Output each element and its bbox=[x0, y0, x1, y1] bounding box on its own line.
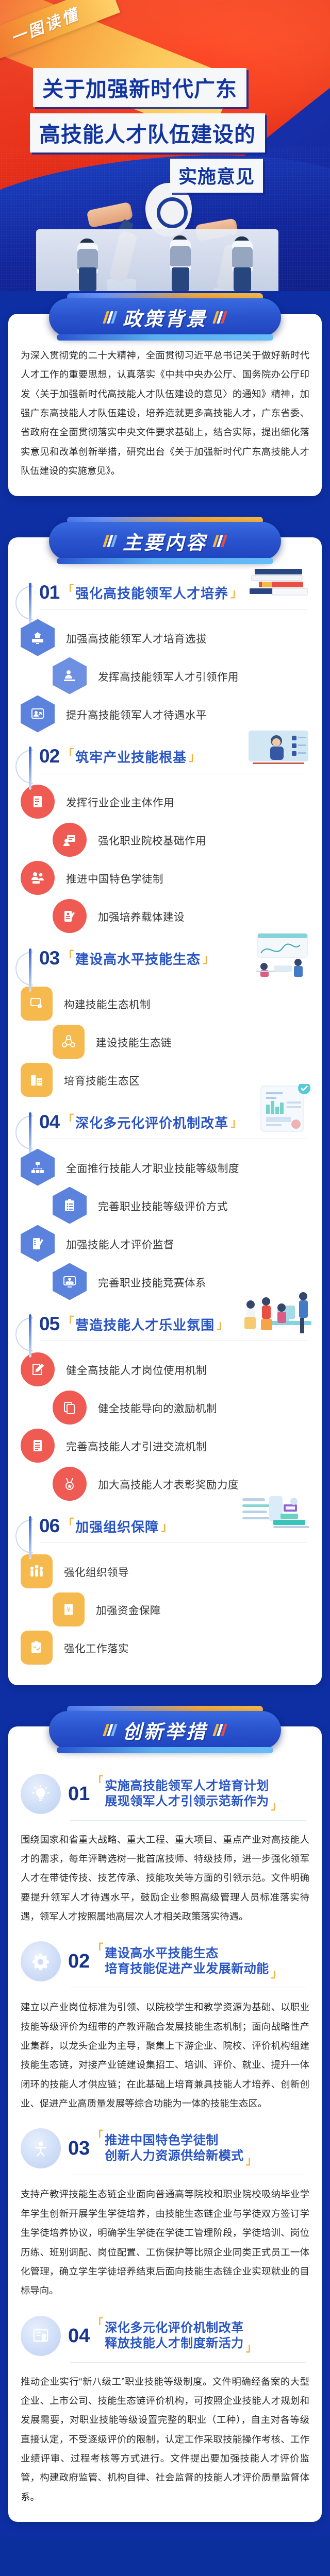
innovative-measures-header: 创新举措 bbox=[8, 1704, 322, 1751]
bracket-open-icon: 「 bbox=[62, 748, 74, 761]
data-analysis-illustration bbox=[244, 933, 309, 977]
hero-title-text-1: 关于加强新时代广东 bbox=[42, 77, 237, 101]
item-heading: 02 「 筑牢产业技能根基 」 bbox=[21, 747, 309, 766]
policy-background-card: 为深入贯彻党的二十大精神，全面贯彻习近平总书记关于做好新时代人才工作的重要思想，… bbox=[8, 314, 322, 496]
bullet-row: 加强技能人才评价监督 bbox=[21, 1225, 309, 1263]
books-shelf-illustration bbox=[240, 1495, 312, 1534]
measure-heading: 03 「 推进中国特色学徒制 创新人力资源供给新模式 」 bbox=[21, 2128, 309, 2168]
bullet-row: 推进中国特色学徒制 bbox=[21, 859, 309, 897]
measure-heading: 04 「 深化多元化评价机制改革 释放技能人才制度新活力 」 bbox=[21, 2316, 309, 2356]
item-divider bbox=[40, 773, 307, 773]
bullet-row: 提升高技能领军人才待遇水平 bbox=[21, 695, 309, 733]
bullet-label: 发挥行业企业主体作用 bbox=[66, 794, 174, 809]
measure-number: 01 bbox=[68, 1784, 90, 1804]
item-title: 建设高水平技能生态 bbox=[75, 952, 201, 968]
item-title: 强化高技能领军人才培养 bbox=[75, 586, 228, 602]
bracket-close-icon: 」 bbox=[217, 1318, 228, 1332]
bullet-label: 加强高技能领军人才培育选拔 bbox=[66, 630, 207, 646]
policy-background-paragraph: 为深入贯彻党的二十大精神，全面贯彻习近平总书记关于做好新时代人才工作的重要思想，… bbox=[21, 346, 309, 481]
bracket-open-icon: 「 bbox=[92, 1942, 103, 1956]
vertical-bar-icon bbox=[29, 1314, 31, 1358]
copy-pages-icon bbox=[53, 1391, 87, 1425]
item-bullets: 发挥行业企业主体作用 强化职业院校基础作用 推进中国特色学徒制 bbox=[21, 783, 309, 935]
measure-divider bbox=[70, 2175, 306, 2175]
report-check-illustration bbox=[255, 1084, 310, 1133]
buildings-icon bbox=[21, 1063, 53, 1097]
section-policy-background: 政策背景 为深入贯彻党的二十大精神，全面贯彻习近平总书记关于做好新时代人才工作的… bbox=[0, 291, 330, 496]
hero-banner: 一图读懂 关于加强新时代广东 高技能人才队伍建设的 实施意见 bbox=[0, 0, 330, 291]
bracket-close-icon: 」 bbox=[189, 751, 200, 764]
group-people-icon bbox=[21, 1554, 53, 1588]
item-number: 04 bbox=[39, 1112, 59, 1131]
screen-gear-icon bbox=[21, 987, 53, 1021]
slashes-right-icon bbox=[212, 535, 227, 547]
measure-title: 深化多元化评价机制改革 释放技能人才制度新活力 bbox=[105, 2320, 244, 2351]
pill-light-accent bbox=[57, 334, 273, 341]
bullet-row: 发挥高技能领军人才引领作用 bbox=[21, 657, 309, 695]
item-title: 加强组织保障 bbox=[75, 1519, 159, 1535]
item-number: 03 bbox=[39, 948, 59, 968]
person-message-icon bbox=[53, 823, 87, 857]
bullet-label: 完善职业技能等级评价方式 bbox=[98, 1198, 228, 1213]
measure-title-line-2: 释放技能人才制度新活力 bbox=[105, 2336, 244, 2351]
content-item-03: 03 「 建设高水平技能生态 」 bbox=[21, 948, 309, 1099]
bullet-label: 强化职业院校基础作用 bbox=[98, 832, 206, 848]
bracket-open-icon: 「 bbox=[92, 2317, 103, 2330]
section-innovative-measures: 创新举措 01 「 bbox=[0, 1704, 330, 2522]
bullet-row: 完善职业技能等级评价方式 bbox=[21, 1187, 309, 1225]
bracket-open-icon: 「 bbox=[62, 1113, 74, 1127]
team-meeting-illustration bbox=[239, 1287, 311, 1336]
item-bullets: 强化组织领导 ¥ 加强资金保障 强化工作落实 bbox=[21, 1552, 309, 1667]
bracket-open-icon: 「 bbox=[62, 1315, 74, 1329]
hero-title-text-2: 高技能人才队伍建设的 bbox=[39, 123, 256, 146]
bullet-label: 加强资金保障 bbox=[96, 1602, 161, 1617]
bracket-open-icon: 「 bbox=[62, 584, 74, 597]
two-persons-icon bbox=[21, 861, 55, 895]
measure-title-line-1: 深化多元化评价机制改革 bbox=[105, 2320, 244, 2336]
bracket-close-icon: 」 bbox=[271, 1967, 283, 1980]
item-title: 筑牢产业技能根基 bbox=[75, 750, 187, 766]
pill-policy-background: 政策背景 bbox=[49, 298, 281, 336]
item-number: 05 bbox=[39, 1314, 59, 1333]
vertical-bar-icon bbox=[29, 948, 31, 992]
bullet-label: 加强技能人才评价监督 bbox=[66, 1236, 174, 1251]
abc-network-icon bbox=[53, 1025, 85, 1059]
item-divider bbox=[40, 1543, 307, 1543]
slashes-right-icon bbox=[212, 1724, 227, 1736]
id-card-pen-icon bbox=[53, 899, 87, 933]
slashes-left-icon bbox=[103, 1724, 118, 1736]
item-title: 深化多元化评价机制改革 bbox=[75, 1115, 228, 1131]
measure-title: 建设高水平技能生态 培育技能促进产业发展新动能 bbox=[105, 1946, 269, 1977]
bracket-close-icon: 」 bbox=[271, 1799, 283, 1812]
clipboard-check-icon bbox=[21, 1631, 53, 1665]
main-content-card: 01 「 强化高技能领军人才培养 」 bbox=[8, 537, 322, 1685]
item-divider bbox=[40, 1139, 307, 1139]
vertical-bar-icon bbox=[29, 747, 31, 790]
infographic-page: 一图读懂 关于加强新时代广东 高技能人才队伍建设的 实施意见 政策背景 bbox=[0, 0, 330, 2537]
bullet-label: 加大高技能人才表彰奖励力度 bbox=[98, 1476, 239, 1492]
person-desk-icon bbox=[53, 657, 87, 694]
item-heading: 03 「 建设高水平技能生态 」 bbox=[21, 948, 309, 968]
bracket-close-icon: 」 bbox=[230, 587, 242, 600]
footer-spacer bbox=[0, 2522, 330, 2537]
bracket-open-icon: 「 bbox=[62, 950, 74, 963]
item-bullets: 健全高技能人才岗位使用机制 健全技能导向的激励机制 完善高技能人才引进交流机制 bbox=[21, 1350, 309, 1503]
content-item-06: 06 「 加强组织保障 」 bbox=[21, 1516, 309, 1667]
bullet-label: 全面推行技能人才职业技能等级制度 bbox=[66, 1160, 239, 1175]
medal-icon bbox=[53, 1467, 87, 1501]
content-item-04: 04 「 深化多元化评价机制改革 」 bbox=[21, 1112, 309, 1301]
person-chart-up-icon bbox=[21, 696, 55, 733]
bracket-open-icon: 「 bbox=[62, 1517, 74, 1531]
bullet-label: 完善职业技能竞赛体系 bbox=[98, 1274, 206, 1290]
measure-03: 03 「 推进中国特色学徒制 创新人力资源供给新模式 」 支持产教评技能生态链企… bbox=[21, 2128, 309, 2300]
bullet-row: 全面推行技能人才职业技能等级制度 bbox=[21, 1148, 309, 1187]
gear-icon bbox=[21, 1941, 61, 1981]
main-content-header: 主要内容 bbox=[8, 515, 322, 562]
pill-light-accent bbox=[57, 1747, 273, 1753]
document-lines-icon bbox=[21, 1429, 55, 1463]
measure-number: 02 bbox=[68, 1952, 90, 1971]
item-number: 02 bbox=[39, 747, 59, 766]
item-divider bbox=[40, 1341, 307, 1341]
screen-home-icon bbox=[21, 619, 55, 656]
document-edit-icon bbox=[21, 785, 55, 819]
measure-title-line-1: 实施高技能领军人才培育计划 bbox=[105, 1778, 269, 1794]
bullet-label: 加强培养载体建设 bbox=[98, 908, 185, 924]
clipboard-list-icon bbox=[53, 1187, 87, 1224]
innovative-measures-card: 01 「 实施高技能领军人才培育计划 展现领军人才引领示范新作为 」 围绕国家和… bbox=[8, 1726, 322, 2522]
measure-heading: 01 「 实施高技能领军人才培育计划 展现领军人才引领示范新作为 」 bbox=[21, 1774, 309, 1814]
measure-title: 实施高技能领军人才培育计划 展现领军人才引领示范新作为 bbox=[105, 1778, 269, 1809]
vertical-bar-icon bbox=[29, 1112, 31, 1156]
measure-paragraph: 支持产教评技能生态链企业面向普通高等院校和职业院校吸纳毕业学年学生创新开展学生学… bbox=[21, 2184, 309, 2300]
policy-background-header: 政策背景 bbox=[8, 291, 322, 338]
bracket-open-icon: 「 bbox=[92, 1775, 103, 1788]
bullet-label: 构建技能生态机制 bbox=[64, 996, 151, 1011]
section-main-content: 主要内容 01 「 强化高技能领军人才培养 」 bbox=[0, 515, 330, 1685]
measure-heading: 02 「 建设高水平技能生态 培育技能促进产业发展新动能 」 bbox=[21, 1941, 309, 1981]
bracket-close-icon: 」 bbox=[246, 2341, 257, 2354]
online-lecture-illustration bbox=[247, 730, 309, 766]
vertical-bar-icon bbox=[29, 583, 31, 626]
bullet-row: 强化职业院校基础作用 bbox=[21, 821, 309, 859]
item-divider bbox=[40, 609, 307, 609]
measure-title-line-2: 培育技能促进产业发展新动能 bbox=[105, 1961, 269, 1977]
item-heading: 06 「 加强组织保障 」 bbox=[21, 1516, 309, 1535]
innovative-measures-title: 创新举措 bbox=[123, 1716, 207, 1744]
bullet-label: 完善高技能人才引进交流机制 bbox=[66, 1438, 207, 1453]
bullet-label: 培育技能生态区 bbox=[64, 1072, 140, 1088]
certificate-icon bbox=[21, 2316, 61, 2356]
svg-text:¥: ¥ bbox=[67, 1606, 71, 1614]
content-item-02: 02 「 筑牢产业技能根基 」 bbox=[21, 747, 309, 935]
measure-04: 04 「 深化多元化评价机制改革 释放技能人才制度新活力 」 推动企业实行“新八… bbox=[21, 2316, 309, 2507]
pill-innovative-measures: 创新举措 bbox=[49, 1711, 281, 1749]
item-heading: 01 「 强化高技能领军人才培养 」 bbox=[21, 583, 309, 602]
measure-paragraph: 推动企业实行“新八级工”职业技能等级制度。文件明确经备案的大型企业、上市公司、技… bbox=[21, 2372, 309, 2507]
bracket-close-icon: 」 bbox=[230, 1116, 242, 1130]
item-number: 06 bbox=[39, 1516, 59, 1535]
measure-title-line-2: 创新人力资源供给新模式 bbox=[105, 2148, 244, 2164]
bullet-row: 建设技能生态链 bbox=[21, 1023, 309, 1061]
bullet-row: 健全技能导向的激励机制 bbox=[21, 1388, 309, 1427]
bullet-label: 建设技能生态链 bbox=[96, 1034, 172, 1049]
bracket-open-icon: 「 bbox=[92, 2129, 103, 2143]
bullet-row: 强化组织领导 bbox=[21, 1552, 309, 1590]
item-heading: 05 「 营造技能人才乐业氛围 」 bbox=[21, 1314, 309, 1333]
hero-title-group: 关于加强新时代广东 高技能人才队伍建设的 实施意见 bbox=[0, 68, 330, 193]
measure-01: 01 「 实施高技能领军人才培育计划 展现领军人才引领示范新作为 」 围绕国家和… bbox=[21, 1774, 309, 1926]
measure-number: 03 bbox=[68, 2139, 90, 2158]
slashes-right-icon bbox=[212, 311, 227, 324]
measure-paragraph: 围绕国家和省重大战略、重大工程、重大项目、重点产业对高技能人才的需求，每年评聘选… bbox=[21, 1830, 309, 1926]
item-number: 01 bbox=[39, 583, 59, 602]
org-chart-icon bbox=[21, 1149, 55, 1186]
vertical-bar-icon bbox=[29, 1516, 31, 1560]
measure-divider bbox=[70, 1820, 306, 1821]
slashes-left-icon bbox=[103, 535, 118, 547]
hero-title-text-3: 实施意见 bbox=[178, 166, 255, 187]
hero-title-line-3: 实施意见 bbox=[170, 159, 263, 193]
measure-02: 02 「 建设高水平技能生态 培育技能促进产业发展新动能 」 建立以产业岗位标准… bbox=[21, 1941, 309, 2113]
item-bullets: 加强高技能领军人才培育选拔 发挥高技能领军人才引领作用 提升高技能领军人才待遇水… bbox=[21, 619, 309, 733]
bracket-close-icon: 」 bbox=[161, 1520, 172, 1534]
measure-paragraph: 建立以产业岗位标准为引领、以院校学生和教学资源为基础、以职业技能等级评价为纽带的… bbox=[21, 1997, 309, 2113]
measure-title-line-2: 展现领军人才引领示范新作为 bbox=[105, 1794, 269, 1809]
measure-number: 04 bbox=[68, 2326, 90, 2346]
measure-divider bbox=[70, 2362, 306, 2363]
bracket-close-icon: 」 bbox=[246, 2154, 257, 2167]
money-note-icon: ¥ bbox=[53, 1592, 85, 1626]
bracket-close-icon: 」 bbox=[203, 953, 214, 966]
bullet-label: 健全技能导向的激励机制 bbox=[98, 1400, 217, 1415]
bullet-label: 强化组织领导 bbox=[64, 1564, 129, 1579]
measure-title: 推进中国特色学徒制 创新人力资源供给新模式 bbox=[105, 2133, 244, 2164]
bullet-row: 加强培养载体建设 bbox=[21, 897, 309, 935]
bullet-row: ¥ 加强资金保障 bbox=[21, 1590, 309, 1629]
item-bullets: 全面推行技能人才职业技能等级制度 完善职业技能等级评价方式 加强技能人才评价监督 bbox=[21, 1148, 309, 1301]
hero-title-line-2: 高技能人才队伍建设的 bbox=[30, 113, 265, 152]
books-illustration bbox=[247, 567, 309, 599]
bullet-label: 提升高技能领军人才待遇水平 bbox=[66, 706, 207, 722]
content-item-01: 01 「 强化高技能领军人才培养 」 bbox=[21, 583, 309, 733]
note-pen-icon bbox=[21, 1352, 55, 1386]
apprentice-icon bbox=[21, 2128, 61, 2168]
slashes-left-icon bbox=[103, 311, 118, 324]
lightbulb-icon bbox=[21, 1774, 61, 1814]
bullet-row: 强化工作落实 bbox=[21, 1629, 309, 1667]
hero-title-line-1: 关于加强新时代广东 bbox=[33, 68, 246, 107]
bullet-label: 强化工作落实 bbox=[64, 1640, 129, 1655]
main-content-title: 主要内容 bbox=[123, 527, 207, 555]
measure-title-line-1: 推进中国特色学徒制 bbox=[105, 2133, 244, 2148]
bullet-label: 推进中国特色学徒制 bbox=[66, 870, 163, 886]
bullet-row: 发挥行业企业主体作用 bbox=[21, 783, 309, 821]
content-item-05: 05 「 营造技能人才乐业氛围 」 bbox=[21, 1314, 309, 1503]
bullet-row: 健全高技能人才岗位使用机制 bbox=[21, 1350, 309, 1388]
item-title: 营造技能人才乐业氛围 bbox=[75, 1317, 214, 1333]
screen-network-icon bbox=[53, 1263, 87, 1300]
bullet-label: 发挥高技能领军人才引领作用 bbox=[98, 668, 239, 684]
bullet-row: 加强高技能领军人才培育选拔 bbox=[21, 619, 309, 657]
pill-main-content: 主要内容 bbox=[49, 522, 281, 560]
measure-divider bbox=[70, 1988, 306, 1988]
item-heading: 04 「 深化多元化评价机制改革 」 bbox=[21, 1112, 309, 1131]
item-bullets: 构建技能生态机制 建设技能生态链 培育技能生态区 bbox=[21, 985, 309, 1099]
bullet-row: 构建技能生态机制 bbox=[21, 985, 309, 1023]
pill-light-accent bbox=[57, 558, 273, 564]
policy-background-title: 政策背景 bbox=[123, 303, 207, 331]
measure-title-line-1: 建设高水平技能生态 bbox=[105, 1946, 269, 1961]
bullet-row: 完善高技能人才引进交流机制 bbox=[21, 1427, 309, 1465]
notebook-pen-icon bbox=[21, 1225, 55, 1262]
bullet-label: 健全高技能人才岗位使用机制 bbox=[66, 1362, 207, 1377]
